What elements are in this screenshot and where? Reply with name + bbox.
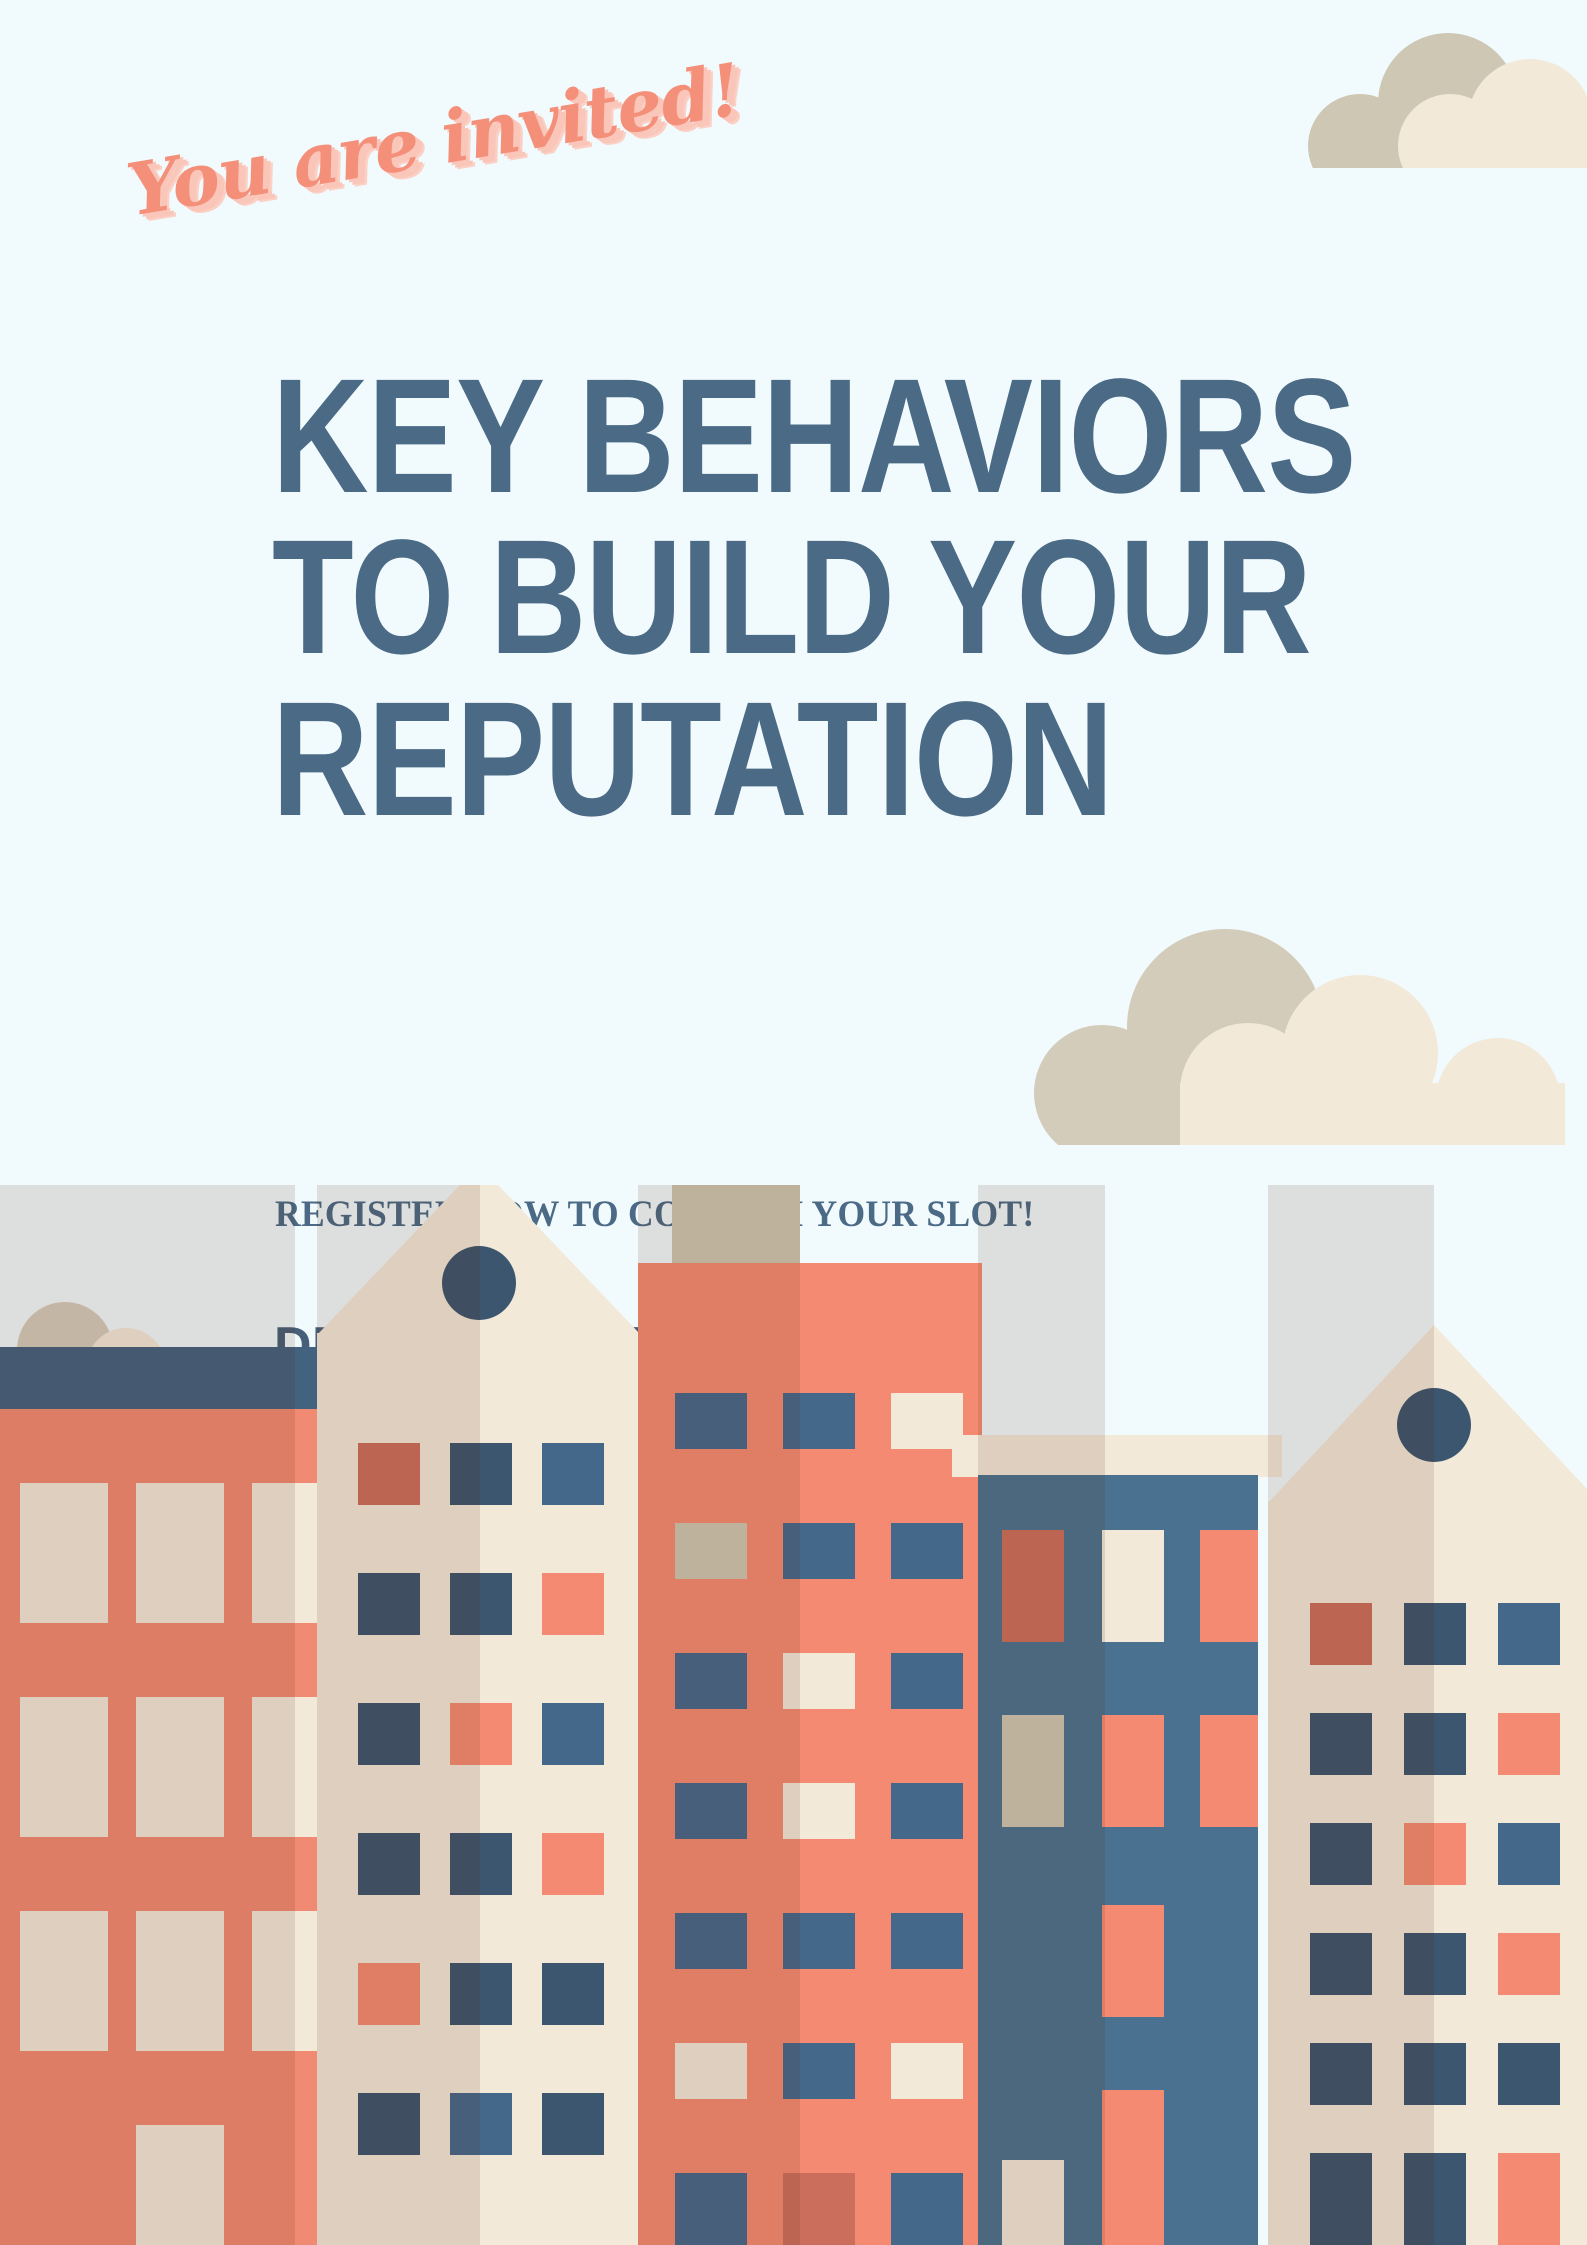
shadow-overlay-left-1 bbox=[0, 1185, 295, 2245]
shadow-overlay-left-2 bbox=[317, 1185, 480, 2245]
shadow-overlay-left-5 bbox=[1268, 1185, 1434, 2245]
cloud-mid-right bbox=[1030, 915, 1587, 1145]
headline-line-2: TO BUILD YOUR bbox=[272, 516, 1133, 677]
shadow-overlay-left-4 bbox=[978, 1185, 1105, 2245]
headline-line-3: REPUTATION bbox=[272, 678, 1133, 839]
cloud-top-right bbox=[1298, 28, 1587, 168]
page-title: KEY BEHAVIORS TO BUILD YOUR REPUTATION bbox=[272, 355, 1133, 839]
headline-line-1: KEY BEHAVIORS bbox=[272, 355, 1133, 516]
poster-canvas: You are invited! KEY BEHAVIORS TO BUILD … bbox=[0, 0, 1587, 2245]
shadow-overlay-left-3 bbox=[638, 1185, 800, 2245]
cityscape-illustration bbox=[0, 1185, 1587, 2245]
you-are-invited-script: You are invited! bbox=[121, 46, 746, 232]
